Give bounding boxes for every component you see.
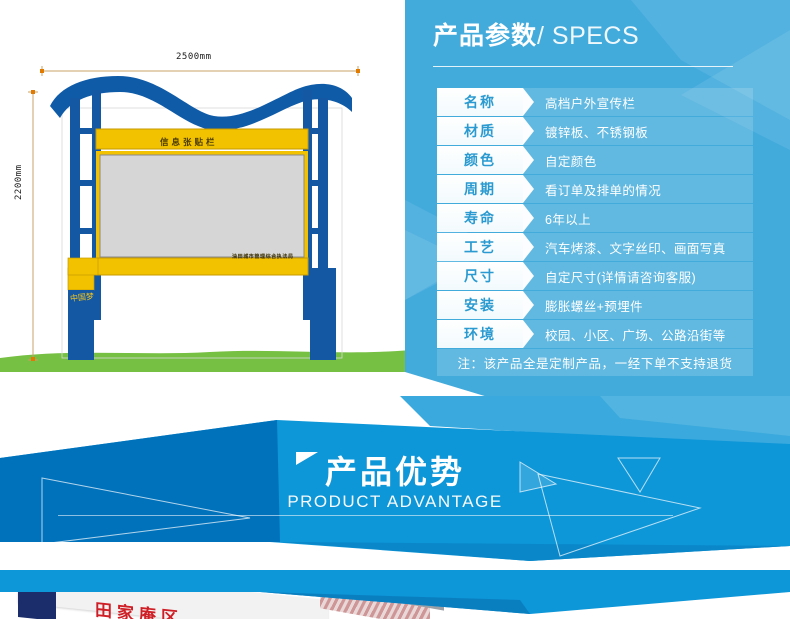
specs-heading: 产品参数/ SPECS <box>433 24 639 49</box>
photo-strip: 田家庵区 <box>0 570 790 619</box>
advantage-title-cn: 产品优势 <box>0 455 790 490</box>
specs-table: 名称 高档户外宣传栏 材质 镀锌板、不锈钢板 颜色 自定颜色 周期 看订单及排单… <box>437 88 753 376</box>
sign-title-text: 信息张贴栏 <box>160 136 218 148</box>
table-row: 材质 镀锌板、不锈钢板 <box>437 117 753 145</box>
page-root: 2500mm 2200mm 信息张贴栏 油田城市管理综合执法局 中国梦 产品参数… <box>0 0 790 619</box>
advantage-title: 产品优势 PRODUCT ADVANTAGE <box>0 455 790 512</box>
table-row: 工艺 汽车烤漆、文字丝印、画面写真 <box>437 233 753 261</box>
table-row: 寿命 6年以上 <box>437 204 753 232</box>
post-right-base <box>310 268 336 360</box>
spec-label: 安装 <box>437 291 523 319</box>
table-row: 周期 看订单及排单的情况 <box>437 175 753 203</box>
spec-note: 注：该产品全是定制产品，一经下单不支持退货 <box>437 349 753 376</box>
spec-label: 周期 <box>437 175 523 203</box>
spec-value: 高档户外宣传栏 <box>523 88 753 116</box>
table-row: 安装 膨胀螺丝+预埋件 <box>437 291 753 319</box>
sign-footer-bar <box>96 258 308 275</box>
dimension-height-label: 2200mm <box>14 164 24 200</box>
sign-footer-text: 油田城市管理综合执法局 <box>232 253 294 260</box>
dimension-left <box>28 92 38 360</box>
spec-value: 6年以上 <box>523 204 753 232</box>
product-technical-drawing: 2500mm 2200mm 信息张贴栏 油田城市管理综合执法局 中国梦 <box>0 0 410 400</box>
dimension-width-label: 2500mm <box>176 52 212 62</box>
board-surface <box>100 155 304 257</box>
spec-label: 尺寸 <box>437 262 523 290</box>
specs-heading-en: / SPECS <box>537 22 639 50</box>
spec-value: 膨胀螺丝+预埋件 <box>523 291 753 319</box>
table-row: 环境 校园、小区、广场、公路沿街等 <box>437 320 753 348</box>
spec-value: 自定颜色 <box>523 146 753 174</box>
table-row: 尺寸 自定尺寸(详情请咨询客服) <box>437 262 753 290</box>
table-row: 颜色 自定颜色 <box>437 146 753 174</box>
spec-label: 名称 <box>437 88 523 116</box>
spec-value: 看订单及排单的情况 <box>523 175 753 203</box>
specs-heading-underline <box>433 66 733 67</box>
advantage-title-en: PRODUCT ADVANTAGE <box>0 492 790 512</box>
spec-label: 寿命 <box>437 204 523 232</box>
spec-value: 镀锌板、不锈钢板 <box>523 117 753 145</box>
spec-label: 材质 <box>437 117 523 145</box>
spec-value: 校园、小区、广场、公路沿街等 <box>523 320 753 348</box>
dimension-top <box>42 66 358 76</box>
table-row: 名称 高档户外宣传栏 <box>437 88 753 116</box>
spec-value: 自定尺寸(详情请咨询客服) <box>523 262 753 290</box>
spec-value: 汽车烤漆、文字丝印、画面写真 <box>523 233 753 261</box>
spec-label: 环境 <box>437 320 523 348</box>
advantage-underline <box>58 515 673 516</box>
grass-ground <box>0 350 410 372</box>
spec-label: 颜色 <box>437 146 523 174</box>
spec-label: 工艺 <box>437 233 523 261</box>
specs-panel: 产品参数/ SPECS 名称 高档户外宣传栏 材质 镀锌板、不锈钢板 颜色 自定… <box>381 0 790 404</box>
specs-heading-cn: 产品参数 <box>433 22 537 50</box>
